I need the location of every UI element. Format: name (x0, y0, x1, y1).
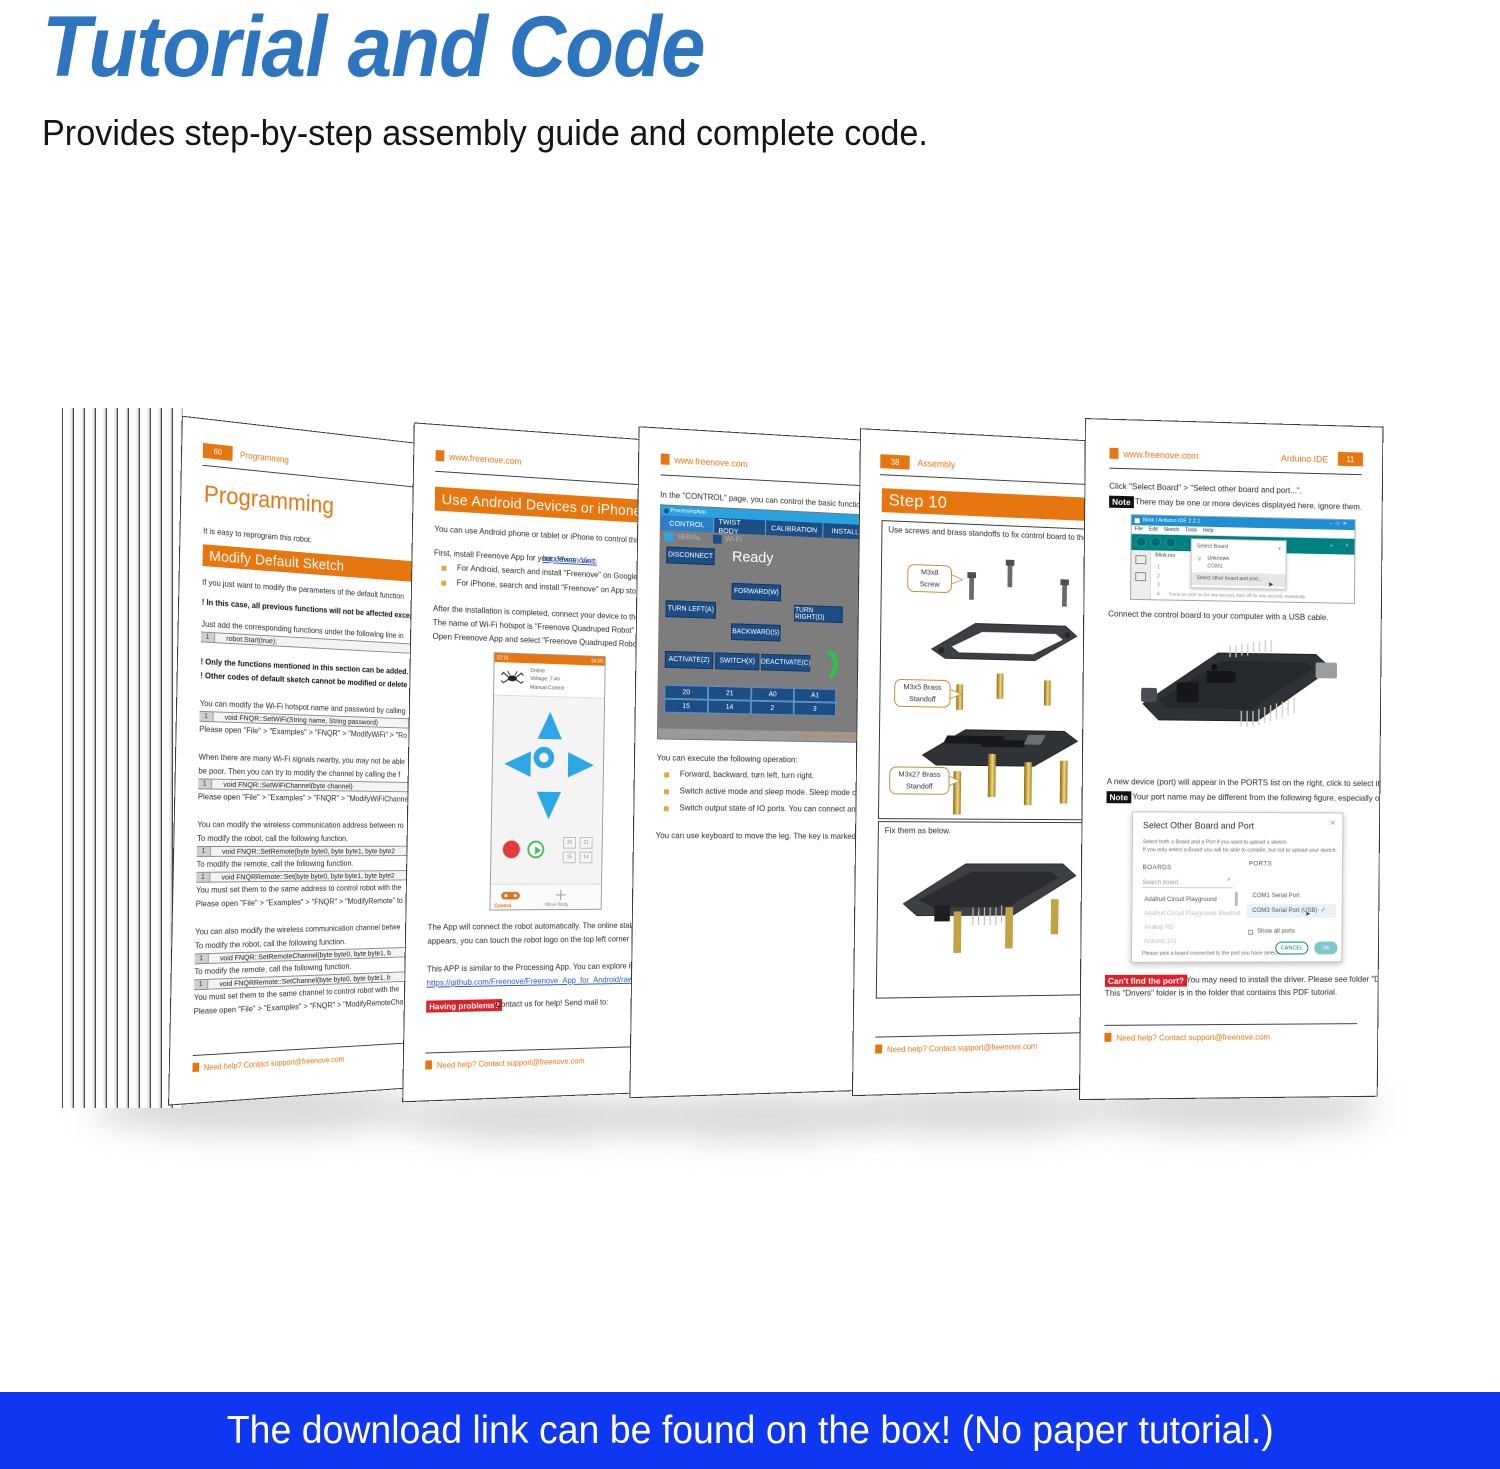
play-icon (531, 844, 544, 858)
status-text: Ready (732, 548, 774, 566)
callout-line1: M3x8 (921, 567, 939, 579)
processing-app-screenshot[interactable]: ProcessingApp CONTROL TWIST BODY CALIBRA… (657, 504, 869, 743)
exploded-view-figure: Use screws and brass standoffs to fix co… (878, 520, 1092, 820)
io-button-14[interactable]: 14 (579, 852, 592, 864)
paragraph: The App will connect the robot automatic… (428, 921, 644, 933)
download-banner: The download link can be found on the bo… (0, 1392, 1500, 1469)
gutter-line: 4 (1157, 590, 1160, 599)
window-controls[interactable]: –□✕ (1329, 521, 1350, 527)
dpad-center-icon[interactable] (533, 747, 554, 769)
screw-part-icon (1060, 579, 1069, 611)
paragraph: Please open "File" > "Examples" > "FNQR"… (198, 792, 409, 804)
tutorial-page-android[interactable]: www.freenove.com Use Android Devices or … (402, 422, 666, 1102)
operation-item: Switch active mode and sleep mode. Sleep… (680, 787, 885, 799)
forward-button[interactable]: FORWARD(W) (731, 583, 781, 602)
tutorial-pages-stage: 60 Programming Programming It is easy to… (0, 0, 1500, 1392)
gutter-line: 1 (1157, 564, 1160, 573)
show-all-ports-label[interactable]: Show all ports (1257, 928, 1295, 935)
show-all-ports-checkbox[interactable] (1248, 930, 1253, 935)
app-footer[interactable]: Press Enter to visit Freenov (658, 728, 865, 742)
paragraph: It is easy to reprogram this robot. (203, 526, 312, 545)
footer-rule (193, 1042, 419, 1056)
page-number-tab: 11 (1338, 452, 1363, 466)
operation-item: Forward, backward, turn left, turn right… (680, 770, 814, 782)
screw-part-icon (1005, 560, 1014, 593)
code-line-number: 1 (194, 980, 208, 989)
dialog-desc-2: If you only select a Board you will be a… (1143, 846, 1337, 855)
editor-code-hint: Turns an LED on for one second, then off… (1169, 592, 1306, 599)
page-number-tab: 60 (203, 443, 233, 461)
robot-mode: Manual Control (530, 684, 564, 693)
window-icon (664, 508, 669, 513)
code-line-text: void FNQRRemote::Set(byte byte0, byte by… (210, 871, 394, 881)
paragraph: You may need to install the driver. Plea… (1186, 975, 1383, 986)
page-shadow (400, 1095, 660, 1139)
paragraph: This APP is similar to the Processing Ap… (427, 961, 643, 975)
dropdown-item-unknown[interactable]: Unknown (1207, 556, 1229, 562)
note-tag: Note (1106, 791, 1131, 803)
having-problems-tag: Having problems? (426, 999, 502, 1013)
code-line-number: 1 (199, 712, 213, 721)
ok-button[interactable]: OK (1314, 942, 1337, 955)
paragraph: Click "Select Board" > "Select other boa… (1109, 482, 1302, 497)
callout-line1: M3x27 Brass (898, 769, 940, 781)
bullet-icon (441, 566, 446, 571)
serial-monitor-icon[interactable]: ⌕ (1345, 543, 1348, 550)
phone-bottom-nav[interactable]: Control Move Body (490, 884, 601, 910)
standoff-part-icon (997, 673, 1004, 699)
port-item-0[interactable]: COM1 Serial Port (1252, 892, 1299, 899)
play-button[interactable] (527, 841, 544, 859)
io-cell-20[interactable]: 20 (664, 685, 708, 700)
ide-app-icon (1135, 518, 1140, 523)
code-line-number: 1 (196, 873, 210, 882)
callout-m3x8-screw: M3x8 Screw (907, 564, 952, 593)
page-heading: Programming (204, 481, 335, 521)
paragraph: Connect the control board to your comput… (1108, 609, 1328, 623)
callout-m3x5-standoff: M3x5 Brass Standoff (894, 679, 951, 708)
header-marker-icon (436, 450, 445, 462)
footer-note[interactable]: Need help? Contact support@freenove.com (1116, 1033, 1270, 1043)
site-label: www.freenove.com (449, 452, 522, 467)
paragraph: Please open "File" > "Examples" > "FNQR"… (196, 896, 403, 909)
standoff-long-icon (1024, 762, 1032, 805)
footer-rule (875, 1032, 1086, 1037)
robot-logo-icon (500, 667, 525, 689)
callout-line2: Standoff (909, 693, 936, 705)
screw-part-icon (967, 572, 976, 605)
dropdown-item-com1[interactable]: COM1 (1207, 564, 1222, 570)
io-cell-a1[interactable]: A1 (794, 688, 836, 703)
dpad-control[interactable] (503, 711, 594, 820)
turn-left-button[interactable]: TURN LEFT(A) (665, 600, 716, 619)
sketch-tab-name[interactable]: Blink.ino (1155, 553, 1175, 559)
activate-button[interactable]: ACTIVATE(Z) (665, 651, 714, 669)
dropdown-title: Select Board (1197, 543, 1228, 550)
operation-item: Switch output state of IO ports. You can… (679, 803, 883, 815)
board-item-1[interactable]: Adafruit Circuit Playground Bluefruit (1144, 910, 1240, 917)
sketchbook-icon[interactable] (1135, 555, 1146, 564)
radio-serial-label[interactable]: SERIAL (677, 533, 701, 541)
control-board-photo (1123, 626, 1349, 768)
paragraph: You must set them to the same address to… (196, 883, 402, 896)
select-board-dropdown[interactable]: Select Board ▾ ⚲ Unknown COM1 Select oth… (1190, 538, 1286, 589)
bullet-icon (664, 789, 669, 794)
tutorial-page-arduino-ide[interactable]: www.freenove.com Arduino IDE 11 Click "S… (1079, 418, 1383, 1100)
record-button[interactable] (503, 840, 520, 858)
code-line-text: void FNQR::SetRemote(byte byte0, byte by… (211, 847, 395, 856)
gutter-line: 3 (1157, 581, 1160, 590)
dialog-hint: Please pick a board connected to the por… (1142, 950, 1285, 958)
board-item-0[interactable]: Adafruit Circuit Playground (1144, 896, 1217, 903)
ide-window-title: Blink | Arduino IDE 2.2.1 (1143, 517, 1201, 524)
code-line-number: 1 (195, 954, 209, 963)
code-line-number: 1 (197, 847, 211, 856)
code-line-number: 1 (198, 779, 212, 788)
header-rule (880, 474, 1092, 485)
standoff-long-icon (988, 754, 996, 797)
turn-right-button[interactable]: TURN RIGHT(D) (794, 605, 843, 623)
dpad-left-icon[interactable] (504, 751, 531, 777)
footer-marker-icon (192, 1063, 199, 1072)
phone-status-right: 04:00 (591, 658, 603, 664)
code-line-text: robot.Start(true); (215, 633, 277, 645)
search-board-input[interactable]: Search board (1142, 876, 1233, 888)
section-label: Assembly (917, 458, 955, 470)
code-line-text: void FNQR::SetWiFiChannel(byte channel) (212, 780, 353, 791)
board-item-2[interactable]: Analog RD (1144, 924, 1174, 931)
bullet-icon (664, 772, 669, 777)
cursor-icon: ➤ (1305, 910, 1311, 918)
verify-icon[interactable] (1135, 536, 1146, 547)
backward-button[interactable]: BACKWARD(S) (731, 623, 781, 641)
right-section-label: Arduino IDE (1281, 453, 1328, 464)
move-body-icon (555, 889, 567, 902)
section-label: Programming (240, 450, 289, 465)
paragraph: To modify the remote, call the following… (196, 859, 353, 870)
tutorial-page-assembly[interactable]: 38 Assembly Step 10 Use screws and brass… (852, 428, 1111, 1096)
header-marker-icon (661, 453, 670, 464)
editor-gutter: 1 2 3 4 (1157, 564, 1160, 599)
arduino-ide-screenshot[interactable]: Blink | Arduino IDE 2.2.1 –□✕ File Edit … (1130, 514, 1356, 604)
standoff-part-icon (1044, 680, 1051, 706)
code-line-number: 1 (201, 632, 215, 642)
io-button-15[interactable]: 15 (563, 852, 576, 864)
footer-marker-icon (875, 1044, 882, 1053)
assembled-view-figure: Fix them as below. (876, 821, 1089, 999)
footer-note[interactable]: Need help? Contact support@freenove.com (204, 1055, 345, 1072)
section-band: Use Android Devices or iPhone (435, 487, 649, 524)
paragraph: If you just want to modify the parameter… (202, 578, 404, 602)
io-cell-a0[interactable]: A0 (751, 687, 794, 702)
footer-note[interactable]: Need help? Contact support@freenove.com (437, 1057, 585, 1071)
check-icon: ✓ (1320, 906, 1326, 914)
figure-intro: Use screws and brass standoffs to fix co… (888, 525, 1103, 544)
menu-edit[interactable]: Edit (1149, 526, 1158, 532)
menu-file[interactable]: File (1135, 526, 1143, 532)
paragraph: This "Drivers" folder is in the folder t… (1105, 988, 1337, 999)
code-line: 1 void FNQR::SetRemote(byte byte0, byte … (197, 846, 423, 857)
freenove-link[interactable]: http://freenove.c (542, 554, 597, 567)
footer-marker-icon (1104, 1033, 1111, 1042)
io-cell-21[interactable]: 21 (708, 686, 751, 701)
bullet-icon (664, 806, 669, 811)
robot-meta: Online Voltage: 7.4V Manual Control (530, 667, 565, 693)
freenove-app-screenshot[interactable]: 12:16 04:00 Online Voltage: 7.4V Manual … (489, 652, 605, 910)
bullet-icon (441, 581, 446, 586)
cant-find-port-tag: Can't find the port? (1105, 975, 1187, 987)
footer-rule (425, 1046, 639, 1053)
io-button-20[interactable]: 20 (563, 837, 576, 849)
chassis-frame-graphic (922, 604, 1085, 677)
paragraph: To modify the robot, call the following … (197, 834, 348, 844)
gamepad-icon (500, 888, 521, 903)
callout-pointer-icon (952, 574, 964, 584)
tab-control-label[interactable]: Control (494, 903, 511, 909)
usb-icon: ⚲ (1198, 556, 1202, 562)
radio-wifi-icon[interactable] (713, 534, 722, 543)
paragraph: ! In this case, all previous functions w… (202, 598, 414, 622)
callout-m3x27-standoff: M3x27 Brass Standoff (889, 766, 950, 794)
serial-plotter-icon[interactable]: ⌁ (1330, 542, 1334, 549)
footer-rule (1105, 1023, 1358, 1026)
paragraph: When there are many Wi-Fi signals nearby… (199, 753, 405, 768)
page-number-tab: 38 (880, 454, 910, 469)
callout-line1: M3x5 Brass (903, 681, 941, 694)
upload-icon[interactable] (1150, 536, 1161, 547)
io-button-21[interactable]: 21 (580, 837, 593, 849)
radio-serial-icon[interactable] (665, 532, 674, 541)
header-rule (435, 471, 648, 486)
dialog-title: Select Other Board and Port (1143, 820, 1254, 830)
section-band: Step 10 (882, 488, 1093, 521)
disconnect-button[interactable]: DISCONNECT (666, 546, 715, 565)
menu-help[interactable]: Help (1203, 528, 1214, 534)
paragraph: You can use Android phone or tablet or i… (434, 524, 649, 546)
ports-column-label: PORTS (1249, 860, 1272, 867)
gutter-line: 2 (1157, 572, 1160, 581)
ide-sidebar[interactable] (1131, 550, 1151, 599)
header-marker-icon (1109, 448, 1118, 459)
header-rule (1109, 468, 1361, 475)
note-tag: Note (1109, 496, 1134, 509)
close-icon[interactable]: ✕ (1330, 819, 1336, 827)
boards-column-label: BOARDS (1143, 864, 1172, 871)
robot-leg-graphic (823, 650, 844, 680)
window-title: ProcessingApp (671, 508, 706, 516)
footer-marker-icon (425, 1060, 432, 1069)
assembled-board-graphic (889, 848, 1082, 977)
dpad-right-icon[interactable] (568, 752, 594, 778)
io-cell-14[interactable]: 14 (708, 700, 751, 715)
callout-line2: Screw (920, 578, 940, 590)
menu-tools[interactable]: Tools (1185, 527, 1197, 533)
paragraph: You can modify the wireless communicatio… (197, 820, 404, 831)
page-shadow (630, 1095, 880, 1139)
site-label: www.freenove.com (674, 455, 747, 469)
dpad-down-icon[interactable] (536, 792, 561, 820)
boards-scrollbar[interactable] (1235, 892, 1238, 906)
banner-text: The download link can be found on the bo… (227, 1409, 1274, 1453)
deactivate-button[interactable]: DEACTIVATE(C) (761, 654, 810, 672)
code-line: 1 void FNQRRemote::Set(byte byte0, byte … (196, 870, 422, 883)
io-cell-15[interactable]: 15 (664, 699, 708, 714)
section-band: Modify Default Sketch (202, 544, 427, 583)
dpad-up-icon[interactable] (538, 711, 563, 739)
operations-title: You can execute the following operation: (657, 753, 798, 765)
callout-pointer-icon (949, 776, 961, 786)
fix-text: Fix them as below. (885, 826, 951, 836)
board-item-3[interactable]: Arduino 101 (1144, 938, 1177, 945)
paragraph: Contact us for help! Send mail to: (495, 998, 608, 1011)
cursor-icon: ➤ (1268, 581, 1274, 589)
debug-icon[interactable] (1165, 537, 1176, 548)
robot-status-card[interactable]: Online Voltage: 7.4V Manual Control (494, 662, 605, 699)
io-cell-3[interactable]: 3 (794, 702, 836, 717)
radio-wifi-label[interactable]: WI-FI (725, 536, 741, 544)
cancel-button[interactable]: CANCEL (1275, 942, 1308, 955)
footer-note[interactable]: Need help? Contact support@freenove.com (887, 1042, 1037, 1054)
dropdown-action-label[interactable]: Select other board and port... (1196, 575, 1262, 582)
site-label: www.freenove.com (1123, 449, 1198, 461)
tab-move-body-label[interactable]: Move Body (545, 902, 568, 908)
standoff-long-icon (1060, 761, 1068, 804)
paragraph: There may be one or more devices display… (1135, 497, 1362, 513)
paragraph: You can use keyboard to move the leg. Th… (655, 831, 876, 842)
callout-line2: Standoff (906, 781, 933, 793)
chevron-down-icon[interactable]: ▾ (1278, 546, 1280, 552)
switch-button[interactable]: SWITCH(X) (715, 652, 759, 670)
menu-sketch[interactable]: Sketch (1164, 527, 1180, 533)
paragraph: appears, you can touch the robot logo on… (427, 935, 637, 947)
select-board-port-dialog[interactable]: Select Other Board and Port ✕ Select bot… (1131, 811, 1344, 963)
callout-pointer-icon (950, 689, 962, 699)
code-line: 1 void FNQR::SetWiFiChannel(byte channel… (198, 778, 424, 792)
phone-status-time: 12:16 (497, 655, 509, 661)
search-icon[interactable]: ⌕ (1227, 876, 1231, 884)
code-line-text: void FNQR::SetRemoteChannel(byte byte0, … (209, 948, 391, 963)
page-shadow (850, 1090, 1100, 1134)
paragraph: A new device (port) will appear in the P… (1107, 777, 1382, 789)
header-rule (661, 474, 870, 486)
io-cell-2[interactable]: 2 (751, 701, 794, 716)
github-link[interactable]: https://github.com/Freenove/Freenove_App… (427, 975, 642, 989)
paragraph: You can also modify the wireless communi… (195, 923, 400, 938)
tutorial-page-processing[interactable]: www.freenove.com In the "CONTROL" page, … (629, 426, 887, 1098)
library-manager-icon[interactable] (1135, 572, 1146, 581)
paragraph: Your port name may be different from the… (1132, 792, 1383, 804)
